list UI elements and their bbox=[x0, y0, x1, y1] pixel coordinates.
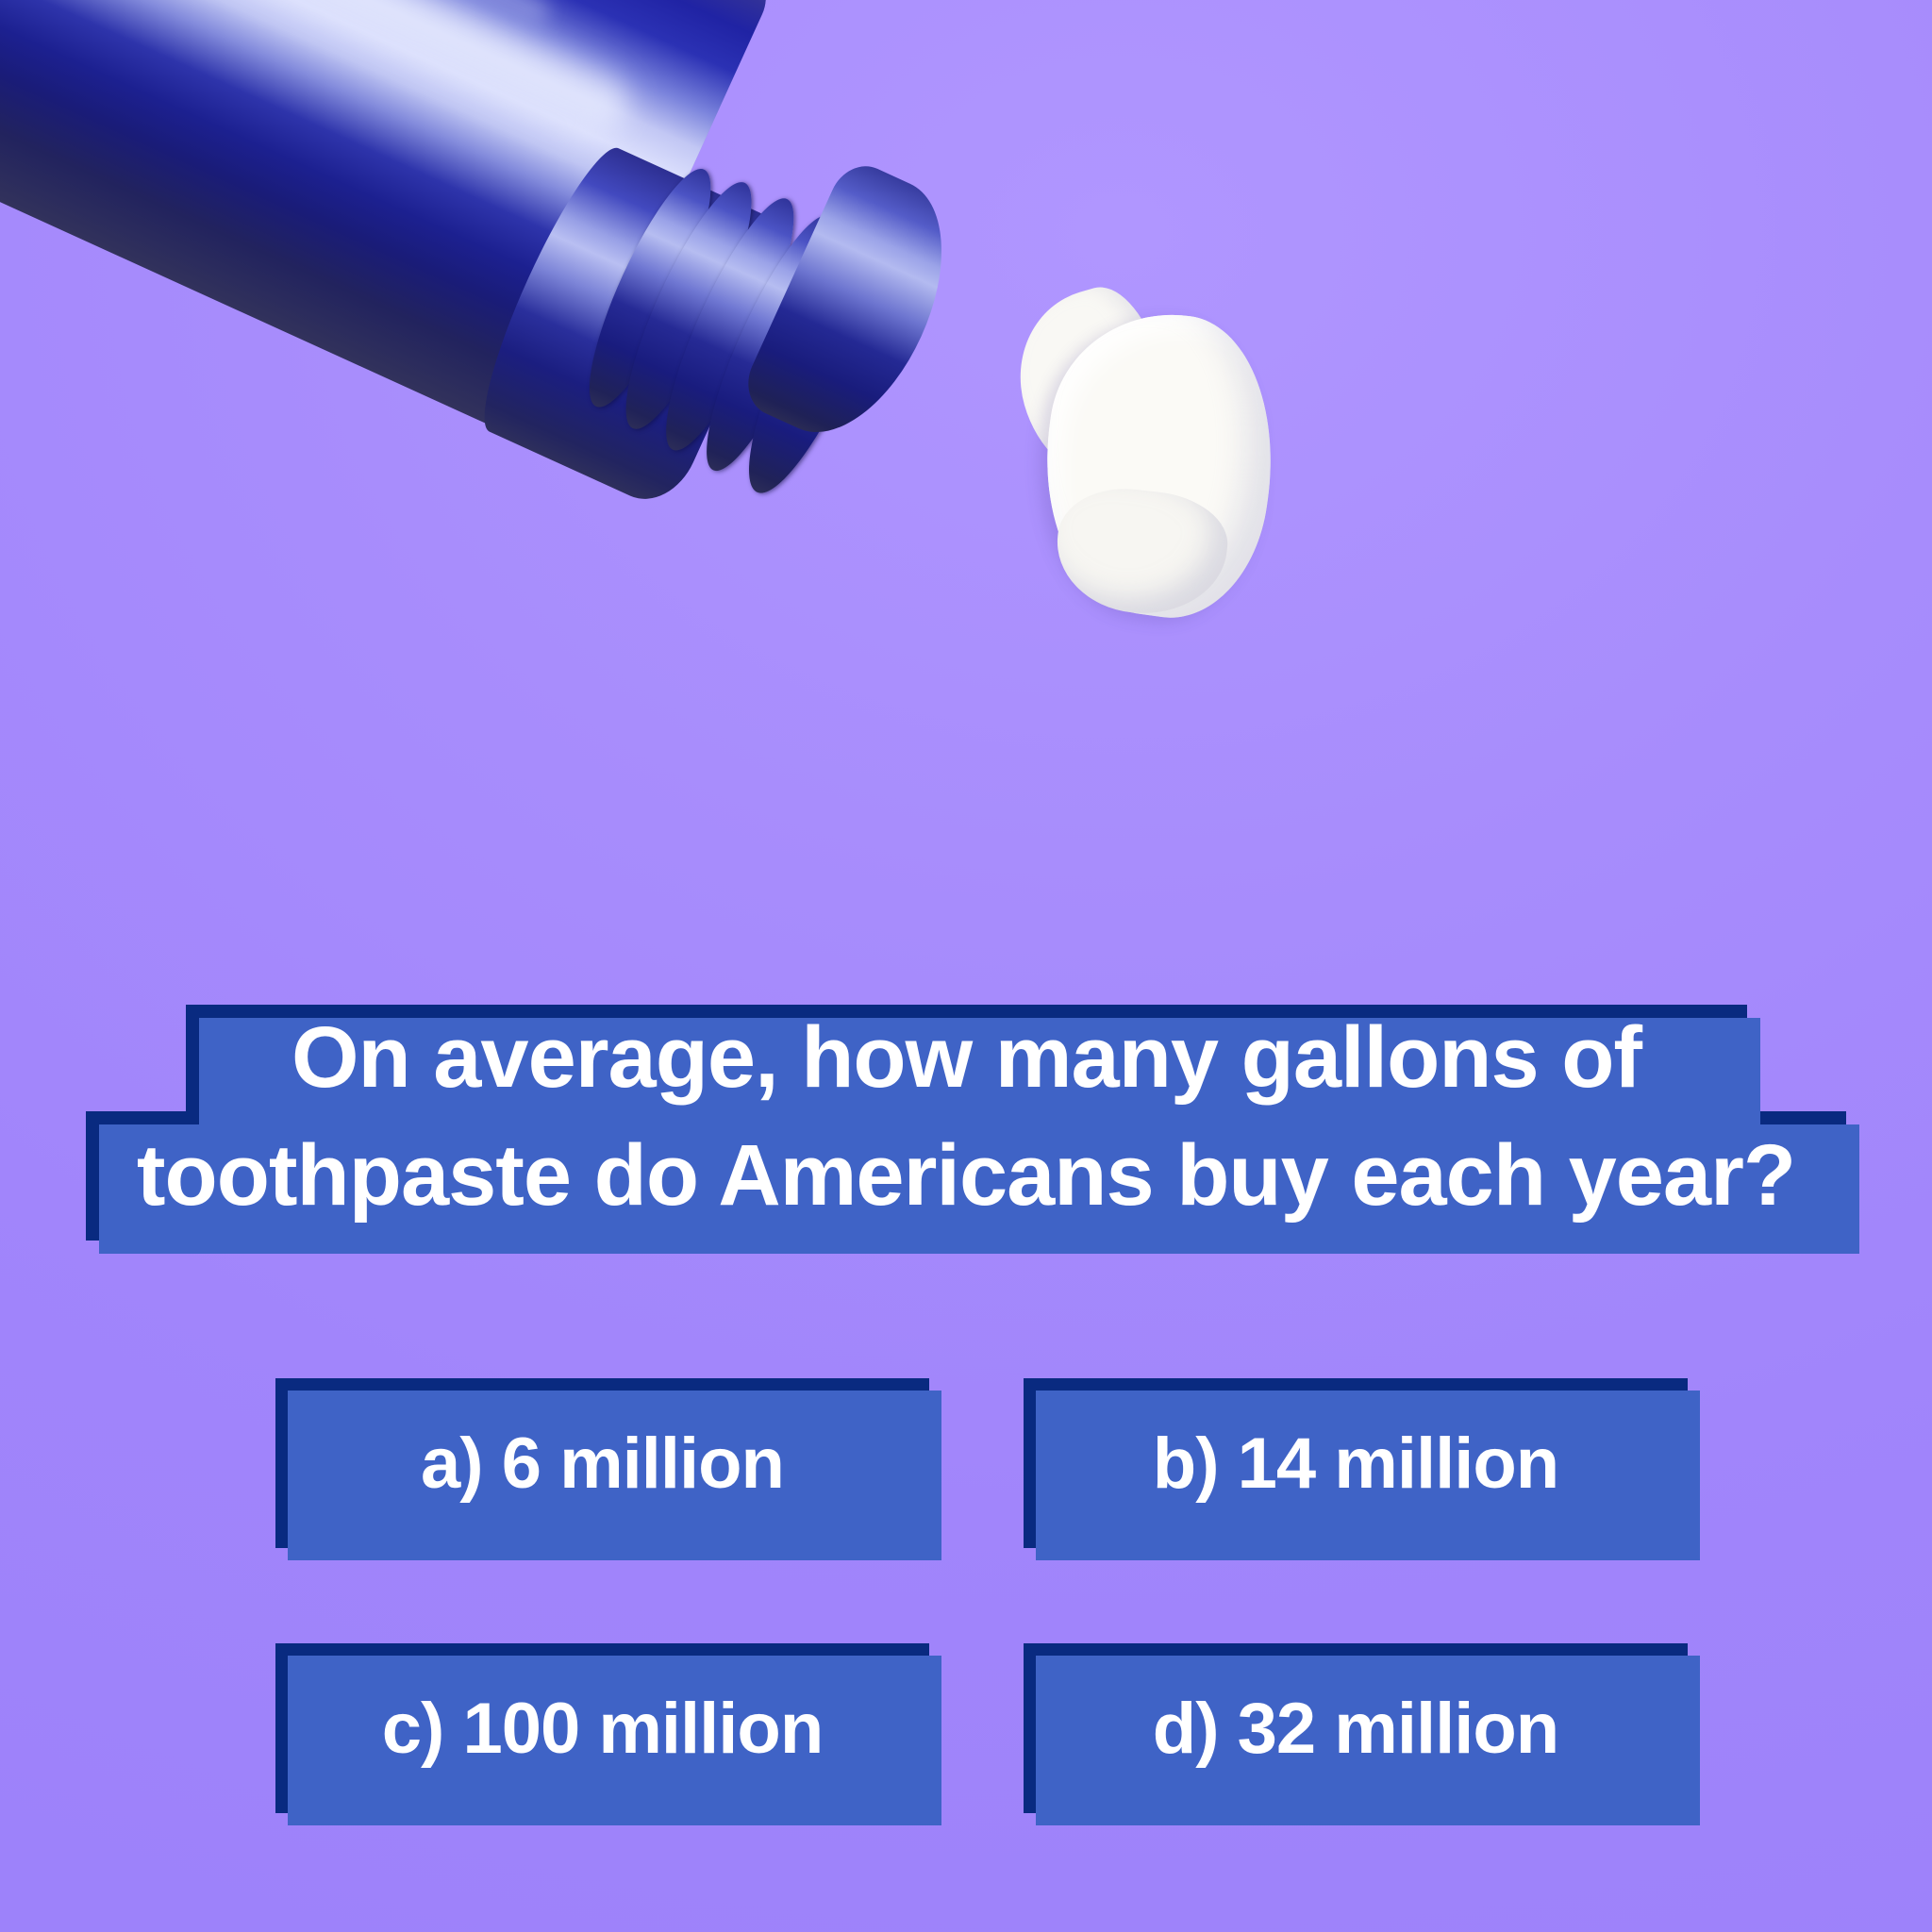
quiz-card: On average, how many gallons of toothpas… bbox=[0, 0, 1932, 1932]
question-text-line2: toothpaste do Americans buy each year? bbox=[137, 1126, 1795, 1225]
answer-label-c: c) 100 million bbox=[382, 1688, 824, 1770]
question-banner-line1: On average, how many gallons of bbox=[186, 1005, 1747, 1111]
question-banner-line2: toothpaste do Americans buy each year? bbox=[86, 1111, 1846, 1241]
answer-option-c[interactable]: c) 100 million bbox=[275, 1643, 929, 1813]
answer-label-a: a) 6 million bbox=[421, 1423, 784, 1505]
answer-label-d: d) 32 million bbox=[1153, 1688, 1558, 1770]
answer-option-b[interactable]: b) 14 million bbox=[1024, 1378, 1688, 1548]
answer-option-d[interactable]: d) 32 million bbox=[1024, 1643, 1688, 1813]
answer-option-a[interactable]: a) 6 million bbox=[275, 1378, 929, 1548]
toothpaste-photo bbox=[0, 0, 1302, 849]
question-text-line1: On average, how many gallons of bbox=[291, 1008, 1641, 1108]
answer-label-b: b) 14 million bbox=[1153, 1423, 1558, 1505]
